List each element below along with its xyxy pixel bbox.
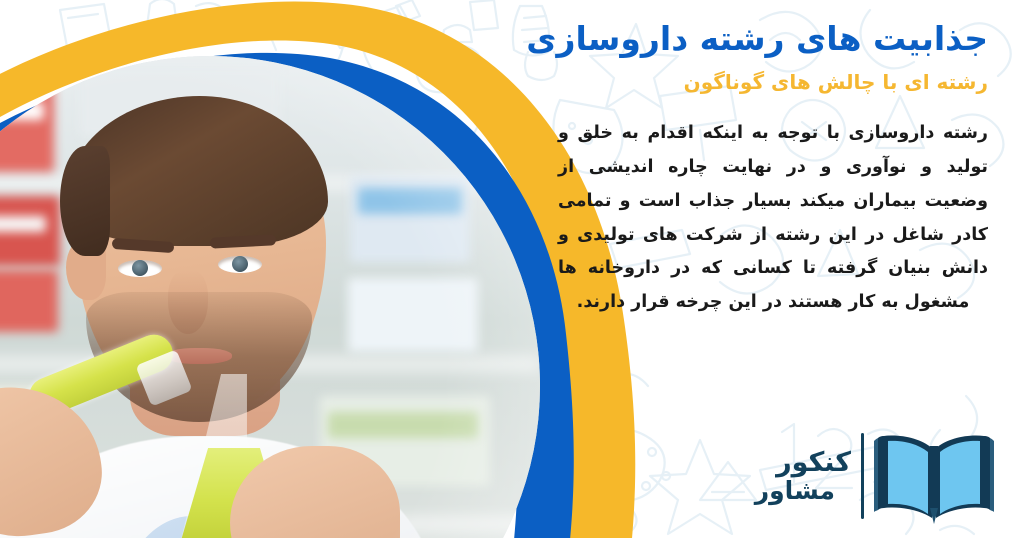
pharmacy-promo-banner: جذابیت های رشته داروسازی رشته ای با چالش… (0, 0, 1024, 538)
logo-wordmark: کنکور مشاور (755, 448, 851, 504)
logo-word-top: کنکور (776, 448, 851, 477)
photo-canvas (0, 56, 540, 538)
logo-divider (861, 433, 864, 519)
text-column: جذابیت های رشته داروسازی رشته ای با چالش… (558, 18, 988, 320)
open-book-pencil-icon (874, 428, 994, 524)
page-subtitle: رشته ای با چالش های گوناگون (558, 69, 988, 95)
body-paragraph: رشته داروسازی با توجه به اینکه اقدام به … (558, 117, 988, 320)
logo-word-bottom: مشاور (755, 477, 851, 504)
photo-vignette (0, 56, 540, 538)
page-title: جذابیت های رشته داروسازی (558, 18, 988, 59)
pharmacist-photo (0, 56, 540, 538)
brand-logo[interactable]: کنکور مشاور (755, 428, 994, 524)
